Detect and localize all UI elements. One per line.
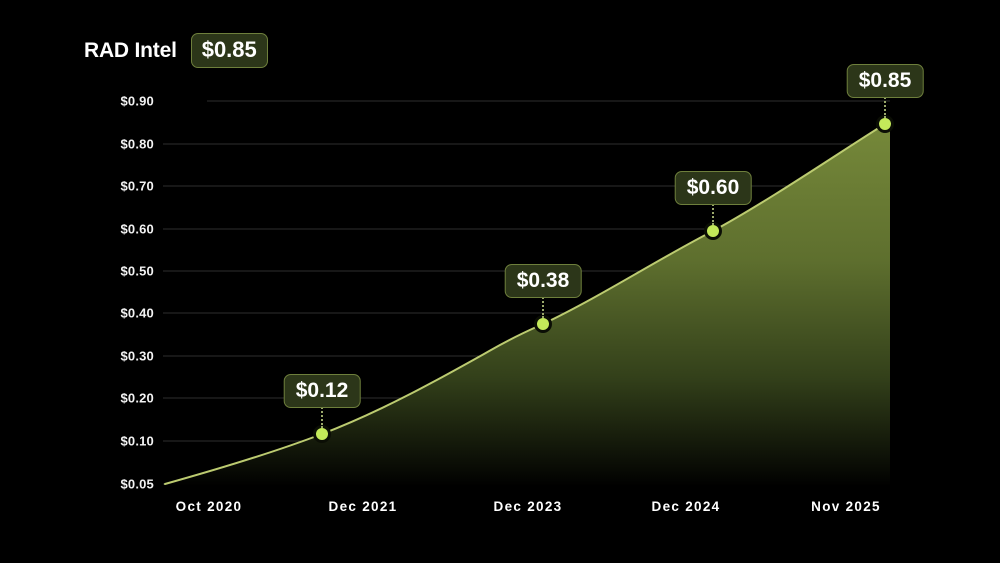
y-axis-tick: $0.90: [82, 95, 154, 108]
data-point-callout: $0.60: [675, 171, 752, 205]
x-axis-tick: Dec 2024: [652, 500, 721, 514]
y-axis-tick: $0.20: [82, 392, 154, 405]
x-axis-tick: Oct 2020: [176, 500, 243, 514]
x-axis-tick: Nov 2025: [811, 500, 881, 514]
data-point-marker-dot: [537, 318, 549, 330]
chart-screenshot: RAD Intel $0.85: [0, 0, 1000, 563]
y-axis: $0.90 $0.80 $0.70 $0.60 $0.50 $0.40 $0.3…: [82, 0, 154, 563]
data-point-callout: $0.38: [505, 264, 582, 298]
x-axis-tick: Dec 2023: [494, 500, 563, 514]
data-point-marker-dot: [316, 428, 328, 440]
y-axis-tick: $0.10: [82, 435, 154, 448]
y-axis-tick: $0.80: [82, 138, 154, 151]
y-axis-tick: $0.60: [82, 223, 154, 236]
y-axis-tick: $0.40: [82, 307, 154, 320]
area-fill: [165, 122, 890, 487]
x-axis-tick: Dec 2021: [329, 500, 398, 514]
y-axis-tick: $0.50: [82, 265, 154, 278]
y-axis-tick: $0.70: [82, 180, 154, 193]
data-point-callout: $0.12: [284, 374, 361, 408]
y-axis-tick: $0.30: [82, 350, 154, 363]
data-point-marker-dot: [707, 225, 719, 237]
data-point-marker-dot: [879, 118, 891, 130]
data-point-callout: $0.85: [847, 64, 924, 98]
y-axis-tick: $0.05: [82, 478, 154, 491]
